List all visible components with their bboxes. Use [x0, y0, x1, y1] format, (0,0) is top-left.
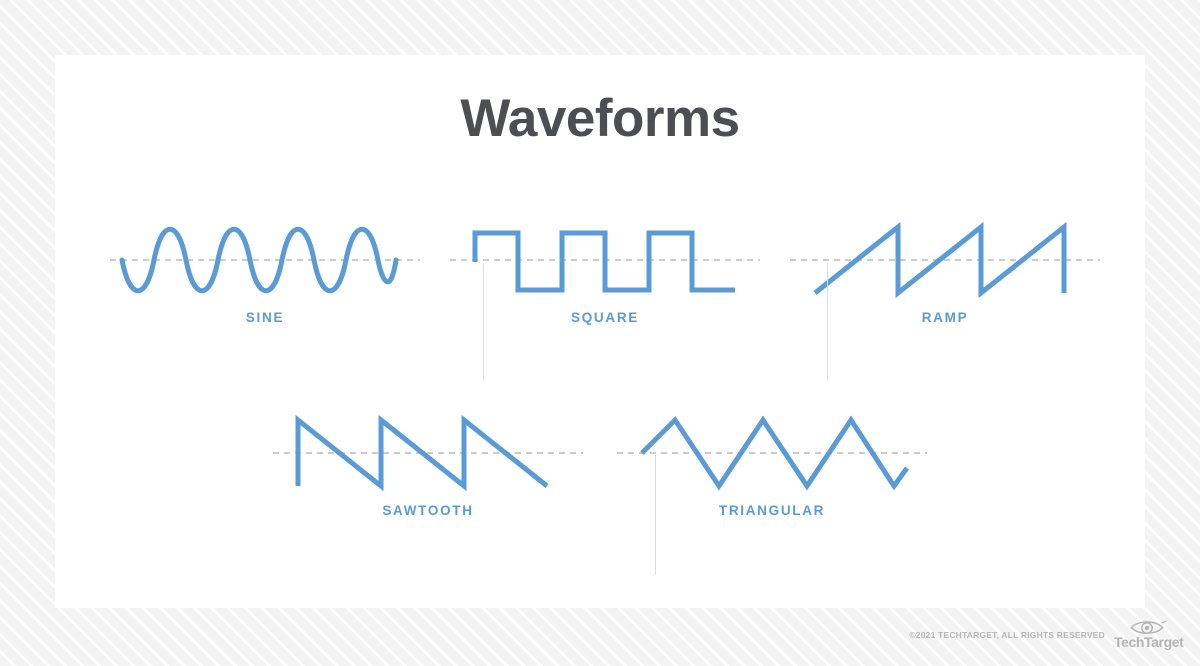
techtarget-wordmark: TechTarget	[1114, 634, 1182, 650]
waveform-label-sine: SINE	[100, 310, 430, 325]
waveform-panel-ramp: RAMP	[780, 205, 1110, 335]
waveform-panel-sawtooth: SAWTOOTH	[263, 398, 593, 528]
footer: ©2021 TECHTARGET, ALL RIGHTS RESERVED Te…	[909, 618, 1182, 652]
eye-icon	[1128, 618, 1168, 635]
panel-divider	[827, 263, 828, 380]
waveform-panel-square: SQUARE	[440, 205, 770, 335]
square-wave-path	[475, 233, 735, 290]
copyright-text: ©2021 TECHTARGET, ALL RIGHTS RESERVED	[909, 630, 1105, 640]
techtarget-logo: TechTarget	[1114, 618, 1182, 652]
waveform-panel-sine: SINE	[100, 205, 430, 335]
waveform-label-ramp: RAMP	[780, 310, 1110, 325]
content-card: Waveforms SINE SQUARE RAMP	[55, 55, 1145, 608]
page-title: Waveforms	[55, 88, 1145, 149]
waveform-label-sawtooth: SAWTOOTH	[263, 503, 593, 518]
page-root: Waveforms SINE SQUARE RAMP	[0, 0, 1200, 666]
panel-divider	[483, 263, 484, 380]
waveform-panel-triangular: TRIANGULAR	[607, 398, 937, 528]
panel-divider	[655, 455, 656, 575]
waveform-label-triangular: TRIANGULAR	[607, 503, 937, 518]
waveform-label-square: SQUARE	[440, 310, 770, 325]
